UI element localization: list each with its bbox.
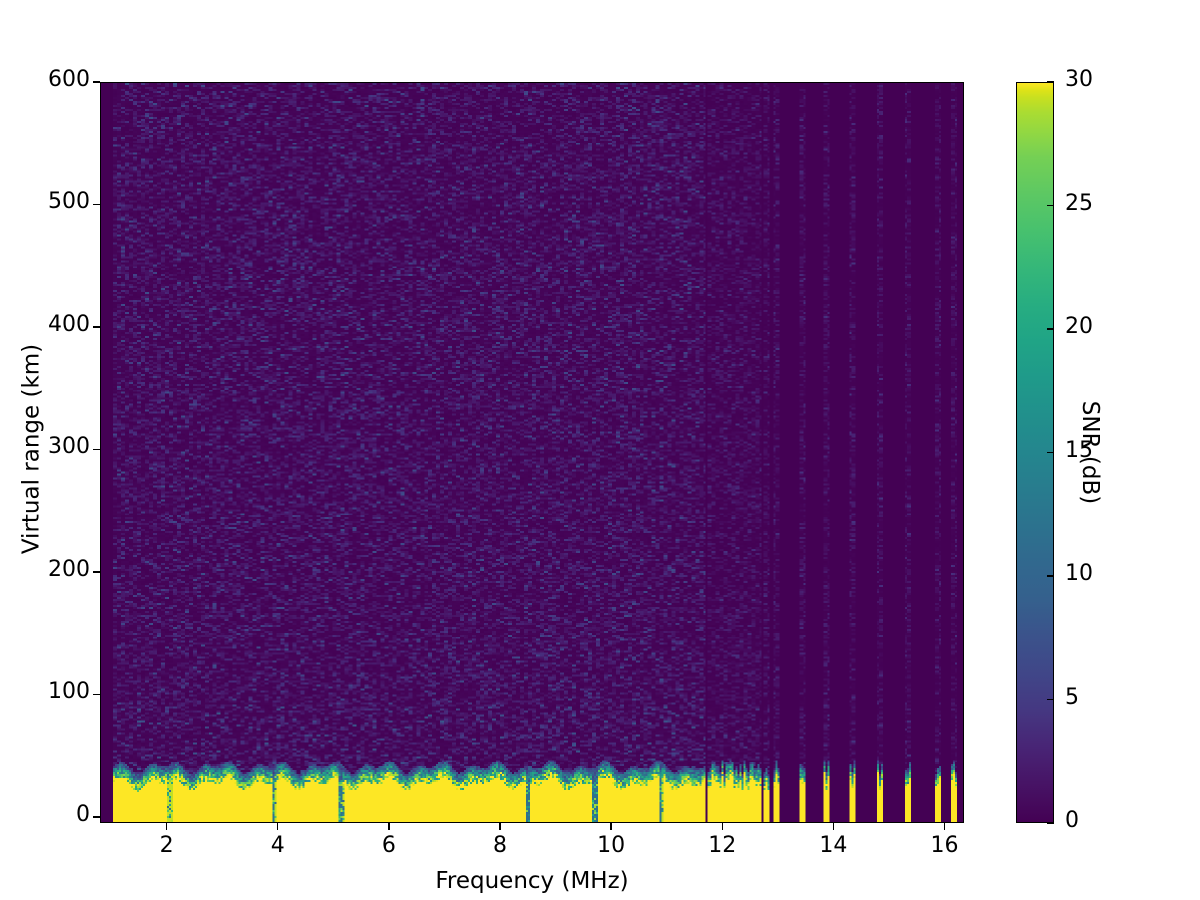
x-tick-mark — [722, 823, 723, 830]
x-tick-label: 2 — [137, 833, 197, 858]
colorbar-axis: 051015202530 — [1054, 82, 1174, 823]
colorbar-tick-mark — [1047, 822, 1054, 823]
x-tick-label: 8 — [470, 833, 530, 858]
x-tick-mark — [833, 823, 834, 830]
y-tick-mark — [93, 449, 100, 450]
colorbar-tick-mark — [1047, 699, 1054, 700]
colorbar-tick-mark — [1047, 205, 1054, 206]
x-axis-label: Frequency (MHz) — [100, 868, 964, 894]
x-tick-mark — [610, 823, 611, 830]
colorbar-label: SNR (dB) — [1076, 82, 1104, 823]
ionogram-heatmap — [101, 83, 963, 822]
x-tick-mark — [499, 823, 500, 830]
y-tick-mark — [93, 326, 100, 327]
ionogram-plot-area — [100, 82, 964, 823]
x-tick-mark — [166, 823, 167, 830]
x-tick-label: 10 — [581, 833, 641, 858]
y-axis-label: Virtual range (km) — [19, 79, 45, 820]
colorbar: 051015202530 — [1016, 82, 1054, 823]
x-tick-label: 16 — [915, 833, 975, 858]
colorbar-tick-mark — [1047, 81, 1054, 82]
y-tick-mark — [93, 571, 100, 572]
y-tick-mark — [93, 81, 100, 82]
x-tick-label: 4 — [248, 833, 308, 858]
x-tick-mark — [277, 823, 278, 830]
x-axis: Frequency (MHz) 246810121416 — [0, 823, 1200, 893]
y-tick-mark — [93, 204, 100, 205]
ionogram-figure: IRF Kiruna Ionosonde KI167 2025-10-05 08… — [0, 0, 1200, 900]
y-tick-mark — [93, 816, 100, 817]
x-tick-label: 12 — [692, 833, 752, 858]
colorbar-tick-mark — [1047, 452, 1054, 453]
x-tick-mark — [388, 823, 389, 830]
x-tick-label: 6 — [359, 833, 419, 858]
colorbar-tick-mark — [1047, 328, 1054, 329]
y-tick-mark — [93, 694, 100, 695]
colorbar-tick-mark — [1047, 575, 1054, 576]
y-axis: 0100200300400500600 — [0, 0, 100, 900]
x-tick-mark — [944, 823, 945, 830]
x-tick-label: 14 — [803, 833, 863, 858]
